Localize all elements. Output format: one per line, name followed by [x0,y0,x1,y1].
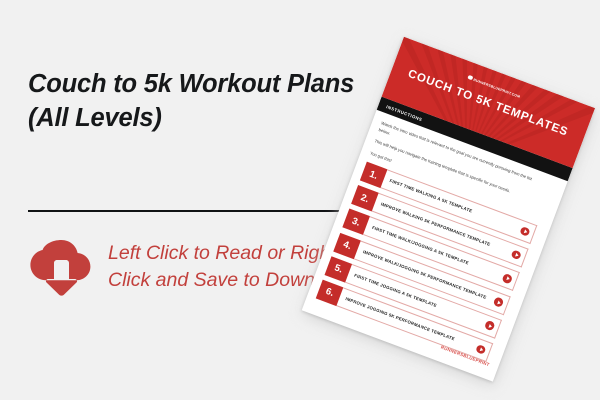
play-icon[interactable] [493,297,504,308]
play-icon[interactable] [476,344,487,355]
play-icon[interactable] [502,273,513,284]
page-root: Couch to 5k Workout Plans (All Levels) L… [0,0,600,400]
play-icon[interactable] [484,320,495,331]
play-icon[interactable] [520,226,531,237]
horizontal-divider [28,210,368,212]
page-title-line-1: Couch to 5k Workout Plans [28,70,354,98]
play-icon[interactable] [511,250,522,261]
page-title-line-2: (All Levels) [28,104,162,132]
page-title: Couch to 5k Workout Plans (All Levels) [28,68,378,136]
cloud-download-icon [28,236,94,298]
